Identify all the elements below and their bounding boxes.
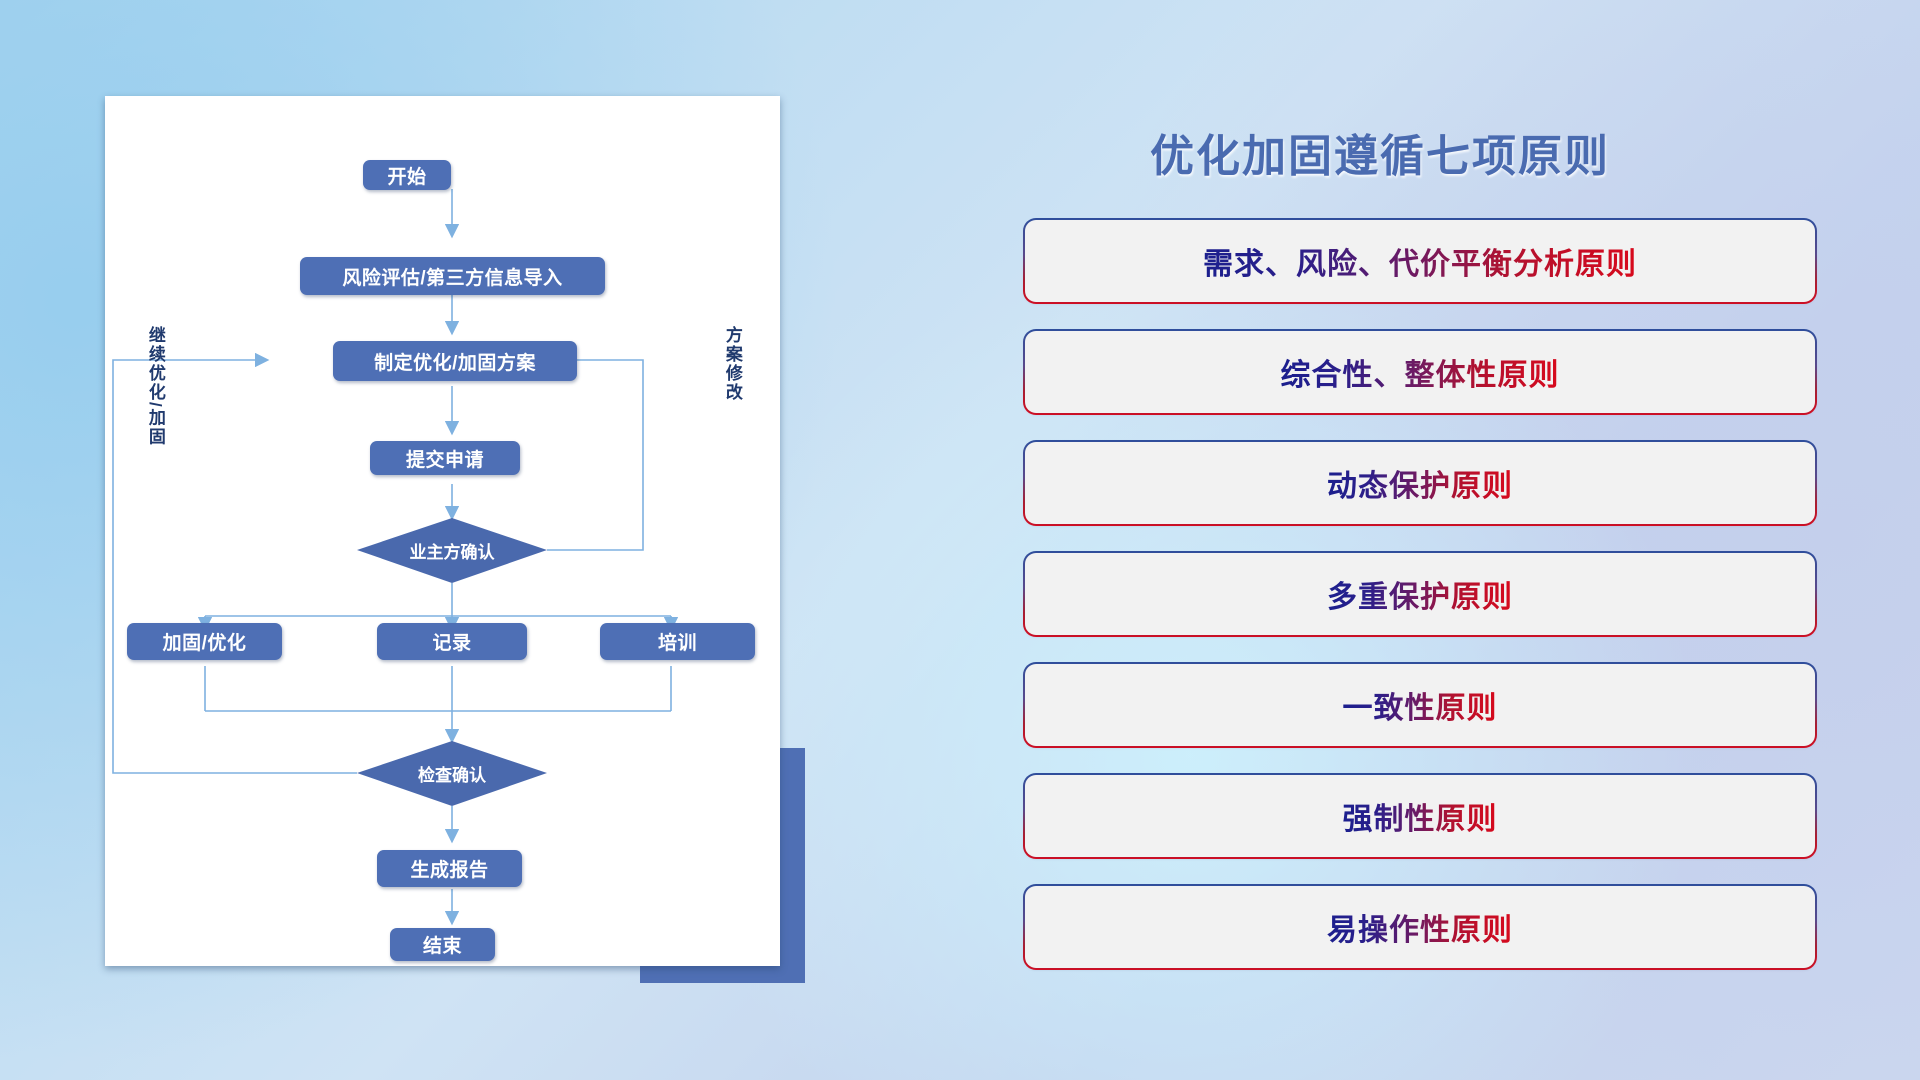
principle-card-3[interactable]: 动态保护原则: [1025, 442, 1815, 524]
flow-node-training[interactable]: 培训: [600, 623, 755, 660]
flow-node-make-plan[interactable]: 制定优化/加固方案: [333, 341, 577, 381]
principle-card-7[interactable]: 易操作性原则: [1025, 886, 1815, 968]
flow-node-submit-application[interactable]: 提交申请: [370, 441, 520, 475]
flowchart-connectors: [105, 96, 780, 966]
edge-label-continue-optimize: 继续优化/加固: [146, 326, 164, 466]
flow-node-risk-assessment[interactable]: 风险评估/第三方信息导入: [300, 257, 605, 295]
decision-owner-confirm: [357, 518, 547, 583]
principle-label: 综合性、整体性原则: [1281, 350, 1560, 394]
flow-node-reinforce-optimize[interactable]: 加固/优化: [127, 623, 282, 660]
principle-label: 动态保护原则: [1327, 461, 1513, 505]
page-title: 优化加固遵循七项原则: [1150, 120, 1610, 184]
principle-card-4[interactable]: 多重保护原则: [1025, 553, 1815, 635]
principle-card-5[interactable]: 一致性原则: [1025, 664, 1815, 746]
principle-label: 多重保护原则: [1327, 572, 1513, 616]
flow-node-record[interactable]: 记录: [377, 623, 527, 660]
process-flowchart: 开始 风险评估/第三方信息导入 制定优化/加固方案 提交申请 业主方确认 加固/…: [105, 96, 780, 966]
principle-label: 易操作性原则: [1327, 905, 1513, 949]
flow-node-start[interactable]: 开始: [363, 160, 451, 190]
principle-label: 强制性原则: [1343, 794, 1498, 838]
principle-card-2[interactable]: 综合性、整体性原则: [1025, 331, 1815, 413]
flow-node-end[interactable]: 结束: [390, 928, 495, 961]
principles-panel: 优化加固遵循七项原则 需求、风险、代价平衡分析原则 综合性、整体性原则 动态保护…: [1020, 100, 1850, 1000]
principle-label: 一致性原则: [1343, 683, 1498, 727]
edge-label-plan-revision: 方案修改: [723, 326, 741, 436]
principle-label: 需求、风险、代价平衡分析原则: [1203, 239, 1637, 283]
principle-card-1[interactable]: 需求、风险、代价平衡分析原则: [1025, 220, 1815, 302]
decision-check-confirm: [357, 741, 547, 806]
flow-node-generate-report[interactable]: 生成报告: [377, 850, 522, 887]
decorative-accent-bar-vertical: [780, 748, 805, 983]
principle-card-6[interactable]: 强制性原则: [1025, 775, 1815, 857]
